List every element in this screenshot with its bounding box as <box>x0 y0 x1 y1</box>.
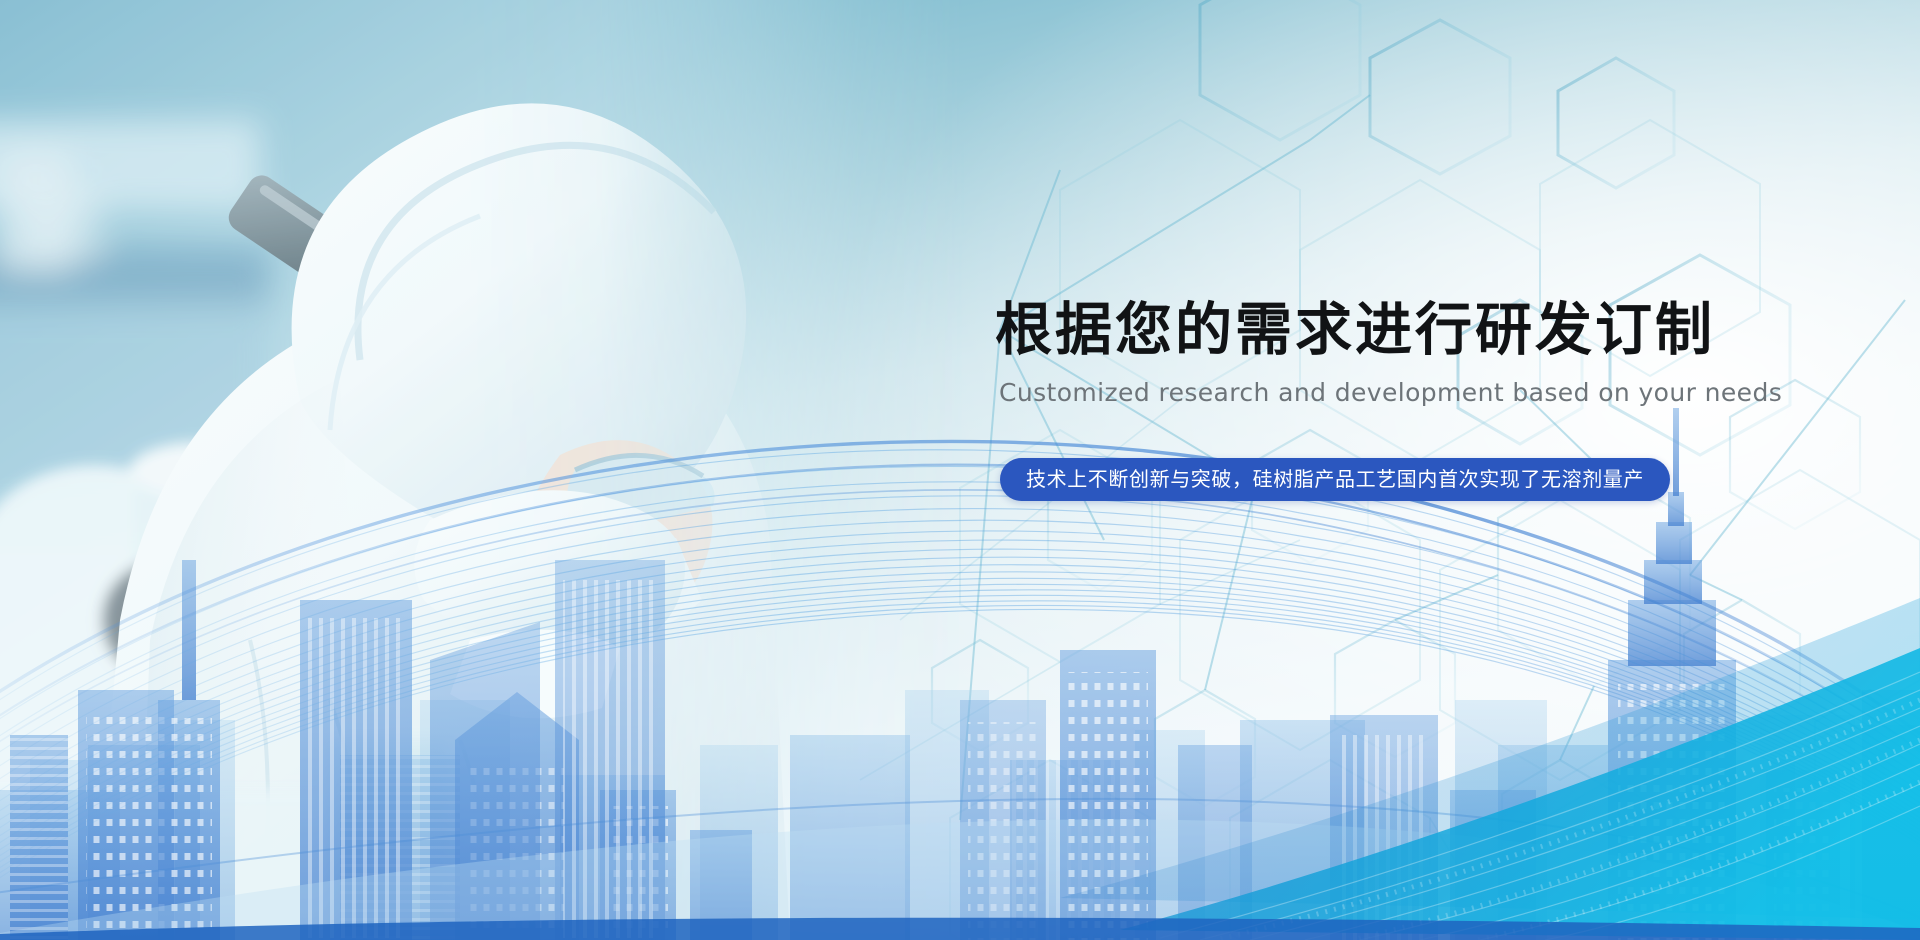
banner-content: 根据您的需求进行研发订制 Customized research and dev… <box>995 300 1795 501</box>
highlight-badge[interactable]: 技术上不断创新与突破，硅树脂产品工艺国内首次实现了无溶剂量产 <box>1000 458 1670 501</box>
page-title: 根据您的需求进行研发订制 <box>995 300 1795 360</box>
hero-banner: 根据您的需求进行研发订制 Customized research and dev… <box>0 0 1920 940</box>
banner-subtitle: Customized research and development base… <box>999 378 1795 408</box>
